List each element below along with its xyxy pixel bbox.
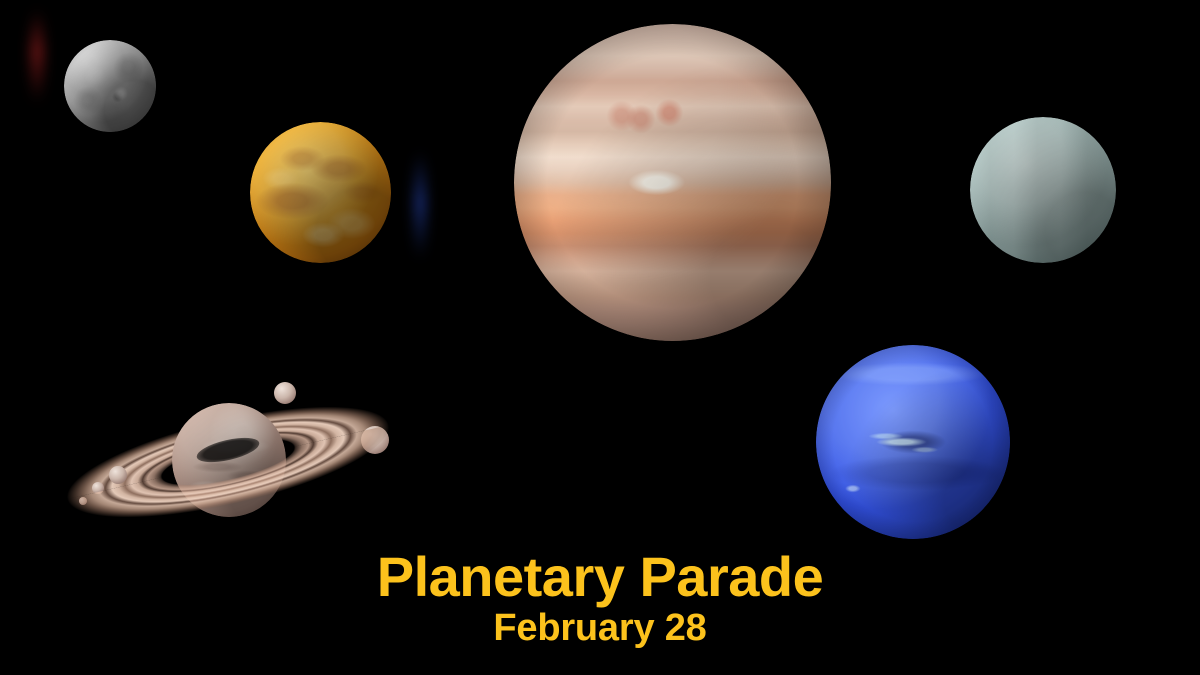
- blue-light-streak: [414, 150, 426, 260]
- page-title: Planetary Parade: [0, 549, 1200, 605]
- venus-surface: [250, 122, 391, 263]
- mercury-surface: [64, 40, 156, 132]
- page-subtitle: February 28: [0, 609, 1200, 647]
- planet-neptune: [816, 345, 1010, 539]
- planet-uranus: [970, 117, 1116, 263]
- planet-jupiter: [514, 24, 831, 341]
- poster-canvas: Planetary Parade February 28: [0, 0, 1200, 675]
- neptune-surface: [816, 345, 1010, 539]
- uranus-surface: [970, 117, 1116, 263]
- red-light-streak: [30, 8, 44, 104]
- saturn-rings-front: [57, 384, 397, 540]
- jupiter-surface: [514, 24, 831, 341]
- planet-mercury: [64, 40, 156, 132]
- saturn-rings-front-wrap: [55, 372, 400, 552]
- title-block: Planetary Parade February 28: [0, 549, 1200, 647]
- planet-venus: [250, 122, 391, 263]
